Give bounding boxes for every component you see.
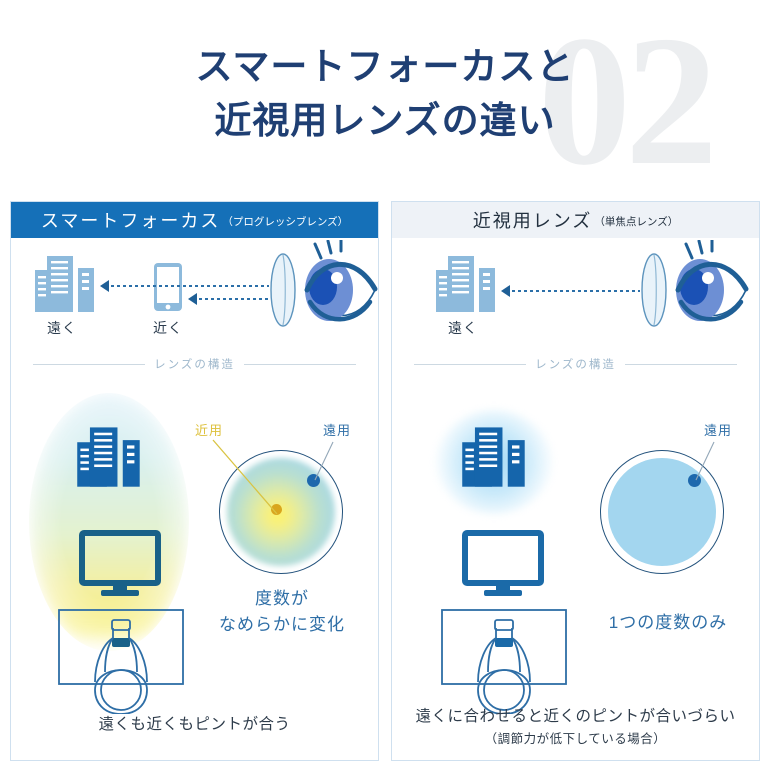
buildings-icon — [458, 423, 530, 489]
bottom-text-left: 遠くも近くもピントが合う — [11, 712, 378, 734]
bottom-text-right: 遠くに合わせると近くのピントが合いづらい — [392, 704, 759, 726]
lens-caption-left: 度数が なめらかに変化 — [207, 586, 357, 639]
panel-header-subtitle: （プログレッシブレンズ） — [222, 214, 348, 229]
ray-far-arrow-right — [501, 285, 510, 297]
panel-header-subtitle: （単焦点レンズ） — [594, 214, 678, 229]
comparison-panels: スマートフォーカス （プログレッシブレンズ） — [10, 201, 760, 761]
infographic-root: 02 スマートフォーカスと 近視用レンズの違い スマートフォーカス （プログレッ… — [0, 0, 770, 770]
lens-leader-lines-left — [191, 428, 361, 538]
lens-caption-right: 1つの度数のみ — [588, 610, 748, 636]
ray-far-line-right — [512, 290, 640, 292]
lens-caption-line-1: 度数が — [207, 586, 357, 612]
far-label-right: 遠く — [448, 318, 478, 338]
monitor-icon — [79, 530, 161, 598]
eye-icon — [263, 240, 381, 340]
title-line-2: 近視用レンズの違い — [0, 94, 770, 148]
divider-label: レンズの構造 — [535, 356, 616, 372]
buildings-icon — [31, 252, 99, 314]
eye-icon — [634, 240, 752, 340]
bottom-note-right: （調節力が低下している場合） — [392, 728, 759, 747]
panel-myopia-lens: 近視用レンズ （単焦点レンズ） — [391, 201, 760, 761]
ray-near-arrow — [188, 293, 197, 305]
lens-near-label-left: 近用 — [195, 420, 223, 439]
panel-smart-focus: スマートフォーカス （プログレッシブレンズ） — [10, 201, 379, 761]
panel-header-title: スマートフォーカス — [41, 207, 220, 233]
ray-far-arrow — [100, 280, 109, 292]
person-reading-phone-icon — [55, 606, 187, 714]
monitor-icon — [462, 530, 544, 598]
buildings-icon — [73, 423, 145, 489]
buildings-icon — [432, 252, 500, 314]
panel-body-smart-focus: 遠く 近く — [11, 238, 378, 760]
far-label-left: 遠く — [47, 318, 77, 338]
divider-lens-structure-left: レンズの構造 — [33, 356, 356, 372]
smartphone-icon — [153, 262, 183, 312]
panel-header-myopia-lens: 近視用レンズ （単焦点レンズ） — [392, 202, 759, 238]
panel-body-myopia-lens: 遠く レンズの構 — [392, 238, 759, 760]
panel-header-title: 近視用レンズ — [473, 207, 593, 233]
divider-lens-structure-right: レンズの構造 — [414, 356, 737, 372]
ray-near-line — [199, 298, 271, 300]
lens-caption-line-2: なめらかに変化 — [207, 612, 357, 638]
lens-far-label-right: 遠用 — [704, 420, 732, 439]
person-reading-phone-icon — [438, 606, 570, 714]
lens-leader-lines-right — [572, 428, 742, 538]
panel-header-smart-focus: スマートフォーカス （プログレッシブレンズ） — [11, 202, 378, 238]
eye-diagram-right: 遠く — [392, 238, 759, 343]
lens-caption-line-1: 1つの度数のみ — [588, 610, 748, 636]
ray-far-line — [111, 285, 269, 287]
title-line-1: スマートフォーカスと — [196, 46, 575, 87]
divider-label: レンズの構造 — [154, 356, 235, 372]
page-title: スマートフォーカスと 近視用レンズの違い — [0, 40, 770, 147]
eye-diagram-left: 遠く 近く — [11, 238, 378, 343]
lens-far-label-left: 遠用 — [323, 420, 351, 439]
near-label-left: 近く — [153, 318, 183, 338]
